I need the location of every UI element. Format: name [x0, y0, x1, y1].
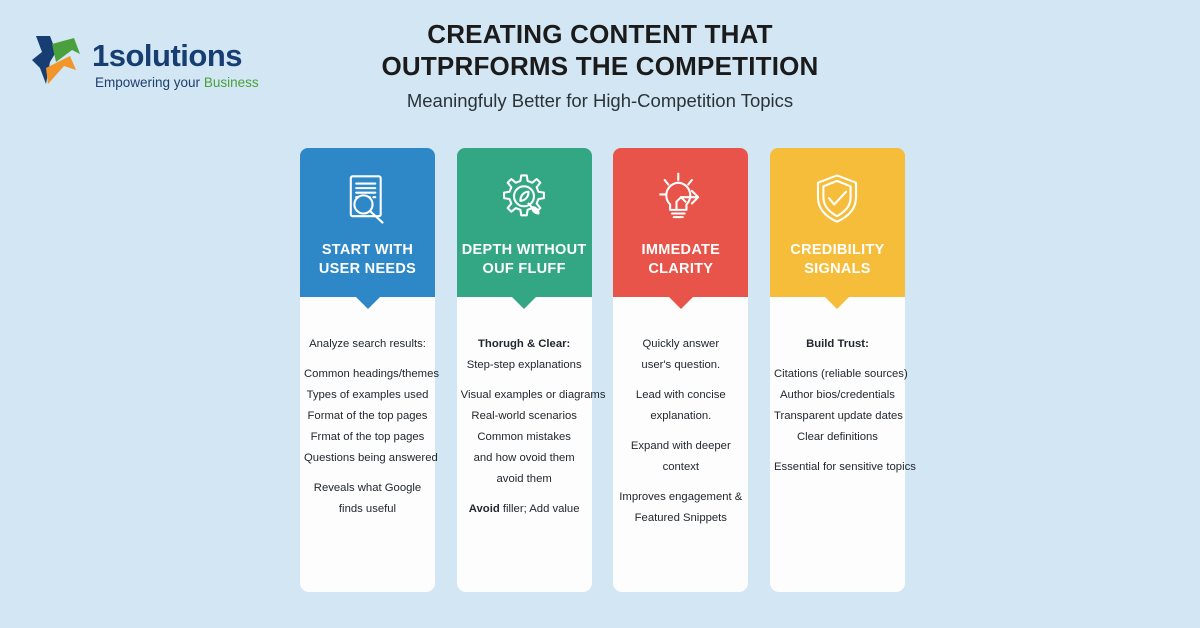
body-line: Thorugh & Clear: — [461, 337, 588, 352]
body-block: Analyze search results: — [304, 337, 431, 352]
body-block: Quickly answer user's question. — [617, 337, 744, 373]
page-heading: CREATING CONTENT THAT OUTPRFORMS THE COM… — [300, 18, 900, 113]
header-notch — [824, 296, 850, 309]
card-immedate-clarity[interactable]: IMMEDATE CLARITY Quickly answer user's q… — [613, 148, 748, 592]
document-magnifier-icon — [339, 170, 397, 228]
body-line: Citations (reliable sources) — [774, 367, 901, 382]
body-line: Quickly answer — [617, 337, 744, 352]
body-line: Real-world scenarios — [461, 409, 588, 424]
body-block: Essential for sensitive topics — [774, 460, 901, 475]
logo-tagline: Empowering your Business — [95, 75, 259, 90]
body-line: Improves engagement & — [617, 490, 744, 505]
body-line: Common mistakes — [461, 430, 588, 445]
card-header: IMMEDATE CLARITY — [613, 148, 748, 297]
body-line: Frmat of the top pages — [304, 430, 431, 445]
tagline-prefix: Empowering your — [95, 75, 204, 90]
body-block: Improves engagement & Featured Snippets — [617, 490, 744, 526]
body-line: Clear definitions — [774, 430, 901, 445]
body-line: Analyze search results: — [304, 337, 431, 352]
card-header: DEPTH WITHOUT OUF FLUFF — [457, 148, 592, 297]
card-title-line-2: CLARITY — [648, 261, 713, 277]
body-line: Visual examples or diagrams — [461, 388, 588, 403]
body-line: Format of the top pages — [304, 409, 431, 424]
body-line: Step-step explanations — [461, 358, 588, 373]
body-line: Transparent update dates — [774, 409, 901, 424]
body-line: avoid them — [461, 472, 588, 487]
body-line: finds useful — [304, 502, 431, 517]
body-line: user's question. — [617, 358, 744, 373]
card-title-line-1: DEPTH WITHOUT — [462, 242, 587, 258]
body-line: Essential for sensitive topics — [774, 460, 901, 475]
card-title-line-2: OUF FLUFF — [483, 261, 566, 277]
brand-logo[interactable]: 1solutions Empowering your Business — [30, 32, 260, 98]
body-line: context — [617, 460, 744, 475]
header-notch — [355, 296, 381, 309]
card-title-line-1: IMMEDATE — [641, 242, 720, 258]
gear-leaf-icon — [495, 170, 553, 228]
card-title: CREDIBILITY SIGNALS — [786, 241, 888, 279]
body-block: Build Trust: — [774, 337, 901, 352]
1solutions-arrows-logo-icon — [30, 32, 96, 90]
card-credibility-signals[interactable]: CREDIBILITY SIGNALS Build Trust: Citatio… — [770, 148, 905, 592]
card-body: Analyze search results: Common headings/… — [300, 297, 435, 592]
body-line: Questions being answered — [304, 451, 431, 466]
body-line: Types of examples used — [304, 388, 431, 403]
body-line-bold: Avoid — [469, 503, 500, 515]
body-line: Reveals what Google — [304, 481, 431, 496]
card-title: DEPTH WITHOUT OUF FLUFF — [458, 241, 591, 279]
body-block: Avoid filler; Add value — [461, 502, 588, 517]
card-body: Quickly answer user's question. Lead wit… — [613, 297, 748, 592]
card-title-line-2: SIGNALS — [804, 261, 871, 277]
body-line: Build Trust: — [774, 337, 901, 352]
card-title-line-1: START WITH — [322, 242, 413, 258]
body-line: Common headings/themes — [304, 367, 431, 382]
card-header: START WITH USER NEEDS — [300, 148, 435, 297]
card-header: CREDIBILITY SIGNALS — [770, 148, 905, 297]
card-depth-without-ouf-fluff[interactable]: DEPTH WITHOUT OUF FLUFF Thorugh & Clear:… — [457, 148, 592, 592]
body-block: Expand with deeper context — [617, 439, 744, 475]
card-list: START WITH USER NEEDS Analyze search res… — [300, 148, 905, 592]
body-line: Author bios/credentials — [774, 388, 901, 403]
card-title: START WITH USER NEEDS — [315, 241, 420, 279]
body-line: and how ovoid them — [461, 451, 588, 466]
body-line: Featured Snippets — [617, 511, 744, 526]
body-block: Reveals what Google finds useful — [304, 481, 431, 517]
body-line: Expand with deeper — [617, 439, 744, 454]
body-line-rest: filler; Add value — [500, 503, 580, 515]
body-line: explanation. — [617, 409, 744, 424]
card-title-line-2: USER NEEDS — [319, 261, 416, 277]
shield-check-icon — [808, 170, 866, 228]
logo-wordmark: 1solutions — [92, 38, 242, 74]
body-block: Visual examples or diagrams Real-world s… — [461, 388, 588, 487]
page-title-line-2: OUTPRFORMS THE COMPETITION — [300, 50, 900, 82]
lightbulb-arrow-icon — [652, 170, 710, 228]
body-line: Lead with concise — [617, 388, 744, 403]
page-title-line-1: CREATING CONTENT THAT — [300, 18, 900, 50]
body-line: Avoid filler; Add value — [461, 502, 588, 517]
card-body: Build Trust: Citations (reliable sources… — [770, 297, 905, 592]
card-title: IMMEDATE CLARITY — [637, 241, 724, 279]
body-block: Lead with concise explanation. — [617, 388, 744, 424]
body-block: Citations (reliable sources) Author bios… — [774, 367, 901, 445]
card-title-line-1: CREDIBILITY — [790, 242, 884, 258]
card-body: Thorugh & Clear: Step-step explanations … — [457, 297, 592, 592]
body-block: Thorugh & Clear: Step-step explanations — [461, 337, 588, 373]
tagline-accent: Business — [204, 75, 259, 90]
header-notch — [511, 296, 537, 309]
page-subtitle: Meaningfuly Better for High-Competition … — [300, 89, 900, 113]
card-start-with-user-needs[interactable]: START WITH USER NEEDS Analyze search res… — [300, 148, 435, 592]
body-block: Common headings/themes Types of examples… — [304, 367, 431, 466]
header-notch — [668, 296, 694, 309]
